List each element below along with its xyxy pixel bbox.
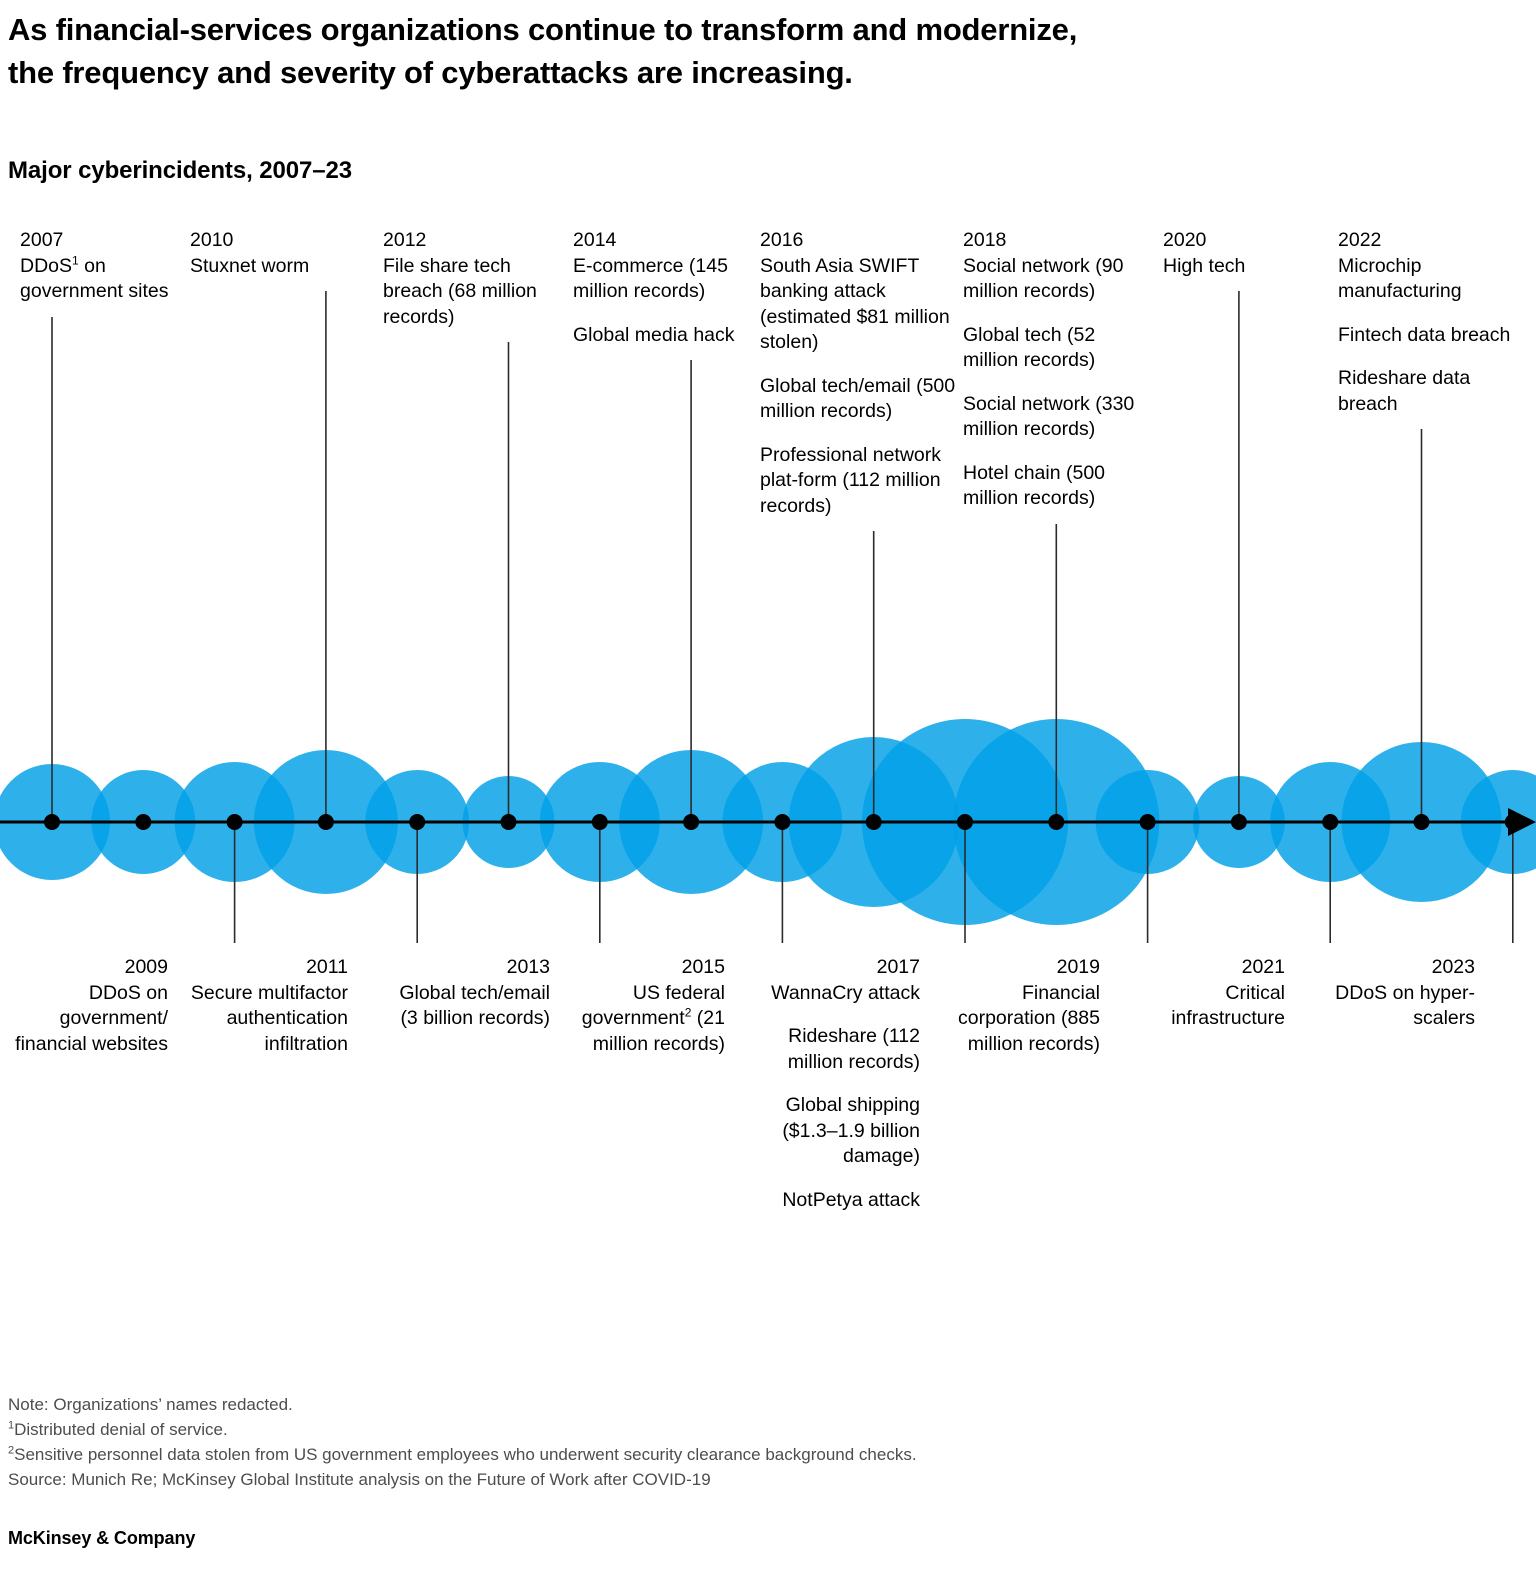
infographic-page: As financial-services organizations cont… (0, 0, 1536, 1572)
annotation-2009: 2009DDoS on government/ financial websit… (0, 955, 168, 1057)
annotation-year: 2020 (1163, 228, 1303, 254)
annotation-year: 2014 (573, 228, 738, 254)
annotation-entry: Hotel chain (500 million records) (963, 461, 1148, 512)
annotation-entry: Rideshare (112 million records) (770, 1024, 920, 1075)
annotation-entry: Rideshare data breach (1338, 366, 1533, 417)
annotation-year: 2021 (1115, 955, 1285, 981)
annotation-2022: 2022Microchip manufacturingFintech data … (1338, 228, 1533, 417)
annotation-entry: Social network (330 million records) (963, 392, 1148, 443)
timeline-dot (1414, 814, 1430, 830)
annotation-year: 2012 (383, 228, 543, 254)
annotation-entry: Microchip manufacturing (1338, 254, 1533, 305)
annotation-year: 2019 (940, 955, 1100, 981)
annotation-2021: 2021Critical infrastructure (1115, 955, 1285, 1032)
annotation-entry: E-commerce (145 million records) (573, 254, 738, 305)
footnote-1: 1Distributed denial of service. (8, 1417, 1408, 1442)
annotation-2015: 2015US federal government2 (21 million r… (560, 955, 725, 1057)
footnotes: Note: Organizations’ names redacted. 1Di… (8, 1392, 1408, 1492)
annotation-2010: 2010Stuxnet worm (190, 228, 380, 279)
annotation-2011: 2011Secure multifactor authentication in… (163, 955, 348, 1057)
timeline-dot (683, 814, 699, 830)
annotation-entry: WannaCry attack (770, 981, 920, 1007)
annotation-entry: Financial corporation (885 million recor… (940, 981, 1100, 1058)
annotation-year: 2009 (0, 955, 168, 981)
footnote-1-text: Distributed denial of service. (14, 1420, 228, 1439)
annotation-year: 2017 (770, 955, 920, 981)
timeline-dot (1322, 814, 1338, 830)
annotation-year: 2013 (395, 955, 550, 981)
annotation-2018: 2018Social network (90 million records)G… (963, 228, 1148, 512)
annotation-entry: Fintech data breach (1338, 323, 1533, 349)
timeline-dot (957, 814, 973, 830)
annotation-entry: NotPetya attack (770, 1188, 920, 1214)
timeline-dot (227, 814, 243, 830)
annotation-year: 2010 (190, 228, 380, 254)
annotation-entry: Stuxnet worm (190, 254, 380, 280)
annotation-year: 2016 (760, 228, 960, 254)
annotation-entry: Secure multifactor authentication infilt… (163, 981, 348, 1058)
timeline-dot (592, 814, 608, 830)
footnote-2: 2Sensitive personnel data stolen from US… (8, 1442, 1408, 1467)
annotation-year: 2023 (1325, 955, 1475, 981)
timeline-dot (135, 814, 151, 830)
annotation-2014: 2014E-commerce (145 million records)Glob… (573, 228, 738, 348)
timeline-dot (501, 814, 517, 830)
annotation-2020: 2020High tech (1163, 228, 1303, 279)
annotation-entry: South Asia SWIFT banking attack (estimat… (760, 254, 960, 356)
annotation-2013: 2013Global tech/email (3 billion records… (395, 955, 550, 1032)
brand-logo: McKinsey & Company (8, 1528, 195, 1549)
footnote-source: Source: Munich Re; McKinsey Global Insti… (8, 1467, 1408, 1492)
timeline-dot (44, 814, 60, 830)
annotation-2016: 2016South Asia SWIFT banking attack (est… (760, 228, 960, 519)
timeline-dot (1048, 814, 1064, 830)
annotation-entry: Social network (90 million records) (963, 254, 1148, 305)
annotation-entry: DDoS1 on government sites (20, 254, 170, 305)
annotation-year: 2011 (163, 955, 348, 981)
annotation-2023: 2023DDoS on hyper-scalers (1325, 955, 1475, 1032)
timeline-dot (318, 814, 334, 830)
annotation-entry: Global tech/email (500 million records) (760, 374, 960, 425)
annotation-year: 2015 (560, 955, 725, 981)
annotation-entry: US federal government2 (21 million recor… (560, 981, 725, 1058)
timeline-dot (1505, 814, 1521, 830)
timeline-dot (866, 814, 882, 830)
annotation-entry: Global tech/email (3 billion records) (395, 981, 550, 1032)
annotation-year: 2007 (20, 228, 170, 254)
timeline-dot (774, 814, 790, 830)
annotation-entry: DDoS on hyper-scalers (1325, 981, 1475, 1032)
annotation-entry: DDoS on government/ financial websites (0, 981, 168, 1058)
annotation-2007: 2007DDoS1 on government sites (20, 228, 170, 305)
annotation-entry: Professional network plat-form (112 mill… (760, 443, 960, 520)
timeline-dot (1140, 814, 1156, 830)
annotation-entry: Global shipping ($1.3–1.9 billion damage… (770, 1093, 920, 1170)
footnote-note: Note: Organizations’ names redacted. (8, 1392, 1408, 1417)
footnote-2-text: Sensitive personnel data stolen from US … (14, 1445, 916, 1464)
annotation-year: 2022 (1338, 228, 1533, 254)
annotation-2017: 2017WannaCry attackRideshare (112 millio… (770, 955, 920, 1213)
annotation-entry: High tech (1163, 254, 1303, 280)
annotation-entry: Global tech (52 million records) (963, 323, 1148, 374)
annotation-2019: 2019Financial corporation (885 million r… (940, 955, 1100, 1057)
annotation-entry: File share tech breach (68 million recor… (383, 254, 543, 331)
annotation-year: 2018 (963, 228, 1148, 254)
timeline-dot (1231, 814, 1247, 830)
annotation-entry: Critical infrastructure (1115, 981, 1285, 1032)
annotation-2012: 2012File share tech breach (68 million r… (383, 228, 543, 330)
timeline-dot (409, 814, 425, 830)
annotation-entry: Global media hack (573, 323, 738, 349)
